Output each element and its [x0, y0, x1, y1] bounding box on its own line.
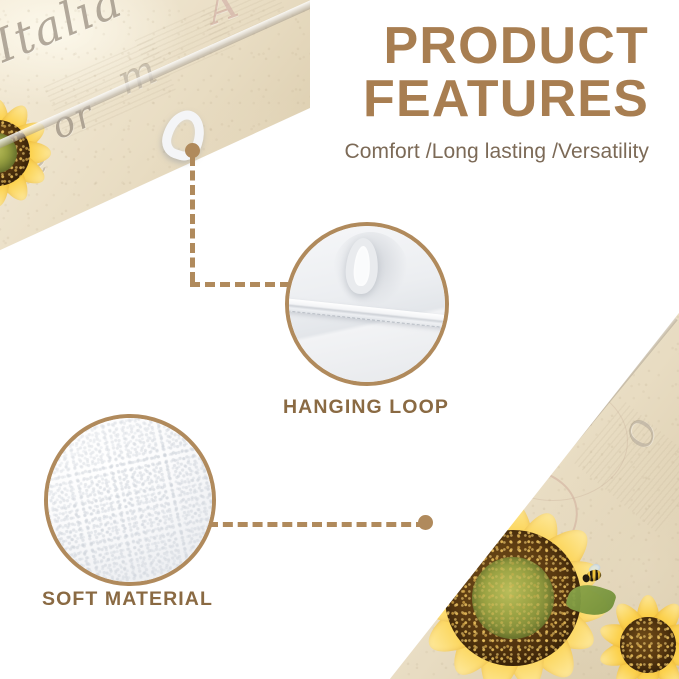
page-subtitle: Comfort /Long lasting /Versatility	[277, 140, 649, 164]
leader-line-vertical-hanging-loop	[190, 156, 195, 282]
sunflower-core-inner	[472, 557, 554, 639]
page-title-line1: PRODUCT	[277, 20, 649, 73]
callout-label-soft-material: SOFT MATERIAL	[42, 588, 213, 611]
terry-sheen	[48, 418, 212, 582]
leader-dot-soft-material	[418, 515, 433, 530]
page-title-line2: FEATURES	[277, 73, 649, 126]
sunflower-motif-left	[0, 88, 62, 218]
decorative-script: N	[519, 327, 578, 385]
leader-line-horizontal-hanging-loop	[190, 282, 290, 287]
hanging-loop-photo	[289, 226, 445, 382]
heading-block: PRODUCT FEATURES Comfort /Long lasting /…	[277, 20, 649, 164]
leader-line-horizontal-soft-material	[208, 522, 426, 527]
decorative-script: e	[378, 527, 404, 556]
fabric-piece-top-left: A Italia m or de	[0, 0, 310, 260]
callout-circle-hanging-loop[interactable]	[285, 222, 449, 386]
hanging-loop-tab	[158, 108, 220, 168]
soft-material-photo	[48, 418, 212, 582]
decorative-script: A	[600, 285, 647, 326]
sunflower-core	[620, 617, 676, 673]
product-features-infographic: A Italia m or de	[0, 0, 679, 679]
callout-label-hanging-loop: HANGING LOOP	[283, 396, 449, 419]
callout-circle-soft-material[interactable]	[44, 414, 216, 586]
